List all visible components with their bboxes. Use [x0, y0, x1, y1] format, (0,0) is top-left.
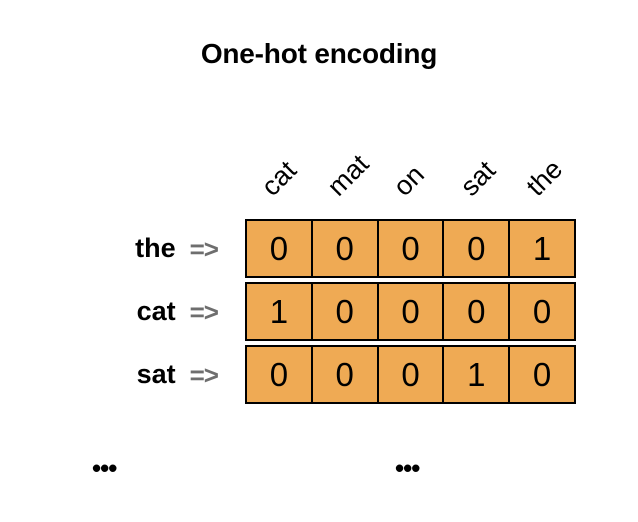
row-label-wrap: cat =>	[0, 282, 245, 345]
row-word: sat	[137, 361, 176, 388]
row-label-the: the =>	[135, 219, 218, 278]
matrix-cell: 0	[313, 347, 379, 402]
matrix-cell: 1	[444, 347, 510, 402]
matrix-cell: 0	[247, 347, 313, 402]
matrix-cell: 1	[510, 221, 574, 276]
arrow-icon: =>	[190, 236, 218, 262]
row-word: the	[135, 235, 176, 262]
table-row: 1 0 0 0 0	[245, 282, 576, 341]
matrix-row-wrap: 1 0 0 0 0	[245, 282, 576, 345]
row-label-wrap: sat =>	[0, 345, 245, 408]
arrow-icon: =>	[190, 299, 218, 325]
row-label-sat: sat =>	[137, 345, 218, 404]
matrix-cell: 1	[247, 284, 313, 339]
ellipsis-rows: •••	[92, 455, 116, 481]
matrix-cell: 0	[379, 347, 445, 402]
row-label-wrap: the =>	[0, 219, 245, 282]
matrix-row-wrap: 0 0 0 0 1	[245, 219, 576, 282]
row-label-column: the => cat => sat =>	[0, 219, 245, 408]
row-label-cat: cat =>	[137, 282, 218, 341]
column-header-label: mat	[323, 150, 374, 201]
column-header-label: cat	[257, 156, 302, 201]
matrix-cell: 0	[379, 284, 445, 339]
column-header-label: the	[522, 155, 568, 201]
table-row: 0 0 0 1 0	[245, 345, 576, 404]
matrix-cell: 0	[444, 284, 510, 339]
column-header-label: sat	[456, 156, 501, 201]
row-word: cat	[137, 298, 176, 325]
column-header-label: on	[389, 161, 429, 201]
ellipsis-columns: •••	[395, 455, 419, 481]
arrow-icon: =>	[190, 362, 218, 388]
page-title: One-hot encoding	[0, 38, 638, 70]
matrix-row-wrap: 0 0 0 1 0	[245, 345, 576, 408]
matrix-cell: 0	[444, 221, 510, 276]
one-hot-matrix: 0 0 0 0 1 1 0 0 0 0 0 0 0 1 0	[245, 219, 576, 408]
matrix-cell: 0	[247, 221, 313, 276]
matrix-cell: 0	[313, 284, 379, 339]
matrix-cell: 0	[313, 221, 379, 276]
matrix-cell: 0	[510, 284, 574, 339]
matrix-cell: 0	[379, 221, 445, 276]
matrix-cell: 0	[510, 347, 574, 402]
table-row: 0 0 0 0 1	[245, 219, 576, 278]
